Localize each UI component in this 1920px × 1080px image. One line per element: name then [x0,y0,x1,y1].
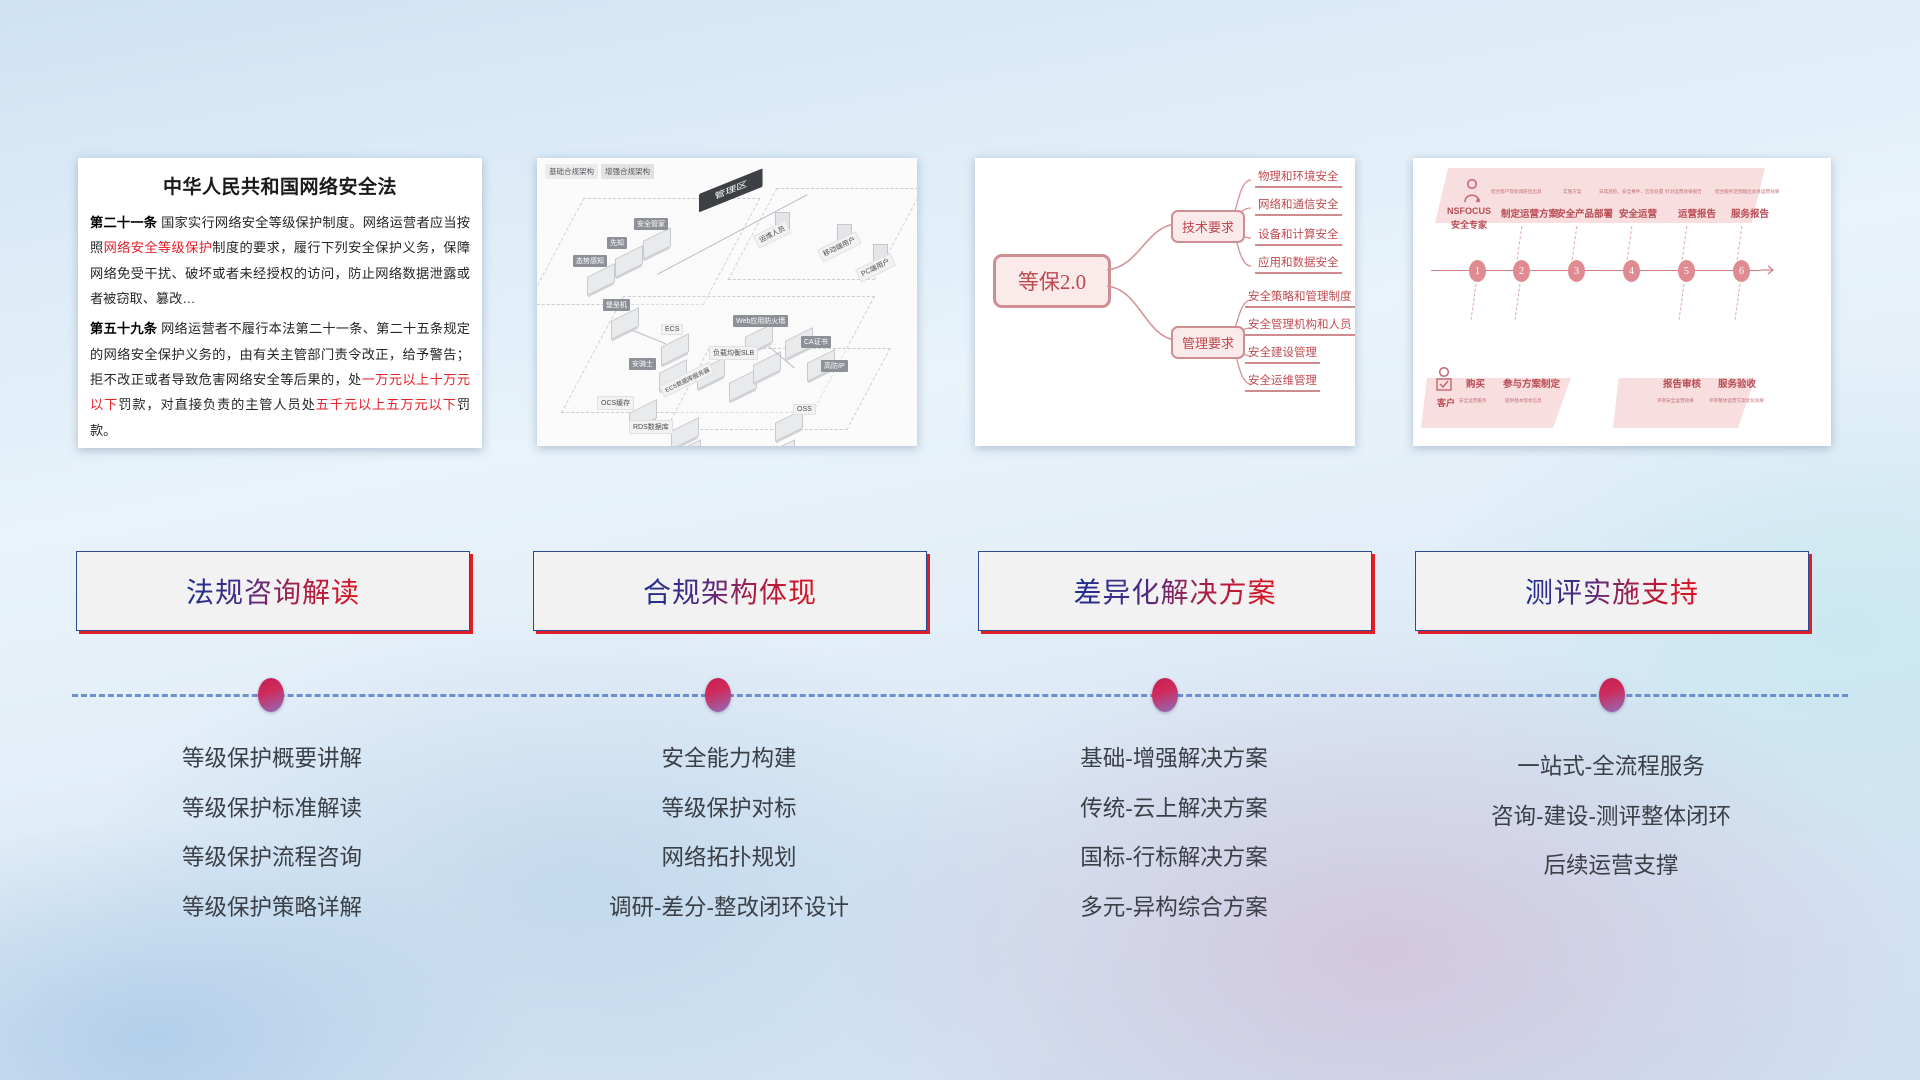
node-waf: Web应用防火墙 [733,315,788,327]
mindmap-leaf-org-personnel: 安全管理机构和人员 [1245,316,1355,336]
tab-enhanced-architecture[interactable]: 增强合规架构 [601,164,654,179]
list-item: 等级保护标准解读 [76,798,468,821]
list-item: 国标-行标解决方案 [978,847,1370,870]
timeline-dash-5 [1682,226,1689,260]
list-item: 等级保护策略详解 [76,897,468,920]
list-item: 后续运营支撑 [1415,855,1807,878]
cube-vpc [767,439,795,446]
node-ecs: ECS [661,324,683,335]
timeline-step-dot-6[interactable]: 6 [1733,260,1750,282]
list-item: 等级保护流程咨询 [76,847,468,870]
mindmap-branch-technical: 技术要求 [1171,210,1245,243]
timeline-step-dot-2[interactable]: 2 [1513,260,1530,282]
list-item: 安全能力构建 [533,748,925,771]
timeline-dash-3 [1572,226,1579,260]
mindmap-branch-management: 管理要求 [1171,326,1245,359]
timeline-dash-b6 [1735,284,1742,320]
law-article-label-2: 第五十九条 [90,321,157,336]
mindmap-diagram: 等保2.0 技术要求 管理要求 物理和环境安全 网络和通信安全 设备和计算安 [975,158,1355,446]
customer-step-5-sub: 评审安全运营效果 [1657,398,1694,404]
architecture-card: 基础合规架构 增强合规架构 管理区 安全管家 先知 态势感知 堡垒机 ECS [537,158,917,446]
node-xianzhi: 先知 [607,237,627,249]
section-title-box-4[interactable]: 测评实施支持 [1415,551,1809,631]
list-item: 一站式-全流程服务 [1415,756,1807,779]
timeline-step-dot-1[interactable]: 1 [1469,260,1486,282]
section-title-1: 法规咨询解读 [186,571,360,611]
node-situational-awareness: 态势感知 [573,255,607,267]
node-ocs-cache: OCS缓存 [597,396,634,410]
timeline-dash-b1 [1471,284,1478,320]
list-item: 传统-云上解决方案 [978,798,1370,821]
timeline-dash-b5 [1679,284,1686,320]
section-title-box-1[interactable]: 法规咨询解读 [76,551,470,631]
provider-step-5-sub: 针对运营效果报告 [1665,189,1702,195]
service-timeline-diagram: NSFOCUS 安全专家 结合客户现状调研后出具 制定运营方案 实施方案 安全产… [1413,158,1831,446]
customer-step-5-main: 报告审核 [1663,376,1701,390]
mindmap-card: 等保2.0 技术要求 管理要求 物理和环境安全 网络和通信安全 设备和计算安 [975,158,1355,446]
provider-step-4-main: 安全运营 [1619,206,1657,220]
provider-step-5-main: 运营报告 [1678,206,1716,220]
slide-canvas: 中华人民共和国网络安全法 第二十一条 国家实行网络安全等级保护制度。网络运营者应… [0,0,1920,1080]
mindmap-leaf-policy-system: 安全策略和管理制度 [1245,288,1355,308]
customer-step-6-sub: 评审整体运营方案优化效果 [1709,398,1764,404]
list-item: 等级保护概要讲解 [76,748,468,771]
mindmap-leaf-ops-mgmt: 安全运维管理 [1245,372,1320,392]
provider-step-4-sub: 日常巡检、安全事件、应急处置 [1599,189,1663,195]
node-bastion-host: 堡垒机 [603,299,630,311]
rail-dot-3[interactable] [1152,678,1178,712]
law-highlight-1: 网络安全等级保护 [104,240,213,255]
customer-step-6-main: 服务验收 [1718,376,1756,390]
list-item: 基础-增强解决方案 [978,748,1370,771]
timeline-rail [72,694,1848,697]
provider-step-3-main: 安全产品部署 [1556,206,1613,220]
timeline-step-dot-5[interactable]: 5 [1678,260,1695,282]
section-list-1: 等级保护概要讲解 等级保护标准解读 等级保护流程咨询 等级保护策略详解 [76,748,468,946]
service-timeline-card: NSFOCUS 安全专家 结合客户现状调研后出具 制定运营方案 实施方案 安全产… [1413,158,1831,446]
law-highlight-3: 五千元以上五万元以下 [316,397,457,412]
section-title-2: 合规架构体现 [643,571,817,611]
mindmap-leaf-device-compute: 设备和计算安全 [1255,226,1342,246]
architecture-tabs: 基础合规架构 增强合规架构 [545,164,654,179]
expert-person-icon [1459,178,1485,204]
section-list-2: 安全能力构建 等级保护对标 网络拓扑规划 调研-差分-整改闭环设计 [533,748,925,946]
provider-step-6-main: 服务报告 [1731,206,1769,220]
provider-step-3-sub: 实施方案 [1563,189,1581,195]
list-item: 多元-异构综合方案 [978,897,1370,920]
timeline-step-dot-3[interactable]: 3 [1568,260,1585,282]
customer-step-1-main: 购买 [1466,376,1485,390]
tab-basic-architecture[interactable]: 基础合规架构 [545,164,598,179]
node-oss: OSS [793,404,816,415]
provider-step-2-main: 制定运营方案 [1501,206,1558,220]
law-paragraph-2: 第五十九条 网络运营者不履行本法第二十一条、第二十五条规定的网络安全保护义务的，… [90,316,470,443]
section-title-box-2[interactable]: 合规架构体现 [533,551,927,631]
architecture-diagram: 基础合规架构 增强合规架构 管理区 安全管家 先知 态势感知 堡垒机 ECS [537,158,917,446]
node-slb: 负载均衡SLB [709,346,758,360]
law-paragraph-1: 第二十一条 国家实行网络安全等级保护制度。网络运营者应当按照网络安全等级保护制度… [90,210,470,311]
mindmap-leaf-network-comm: 网络和通信安全 [1255,196,1342,216]
customer-role: 客户 [1437,396,1455,409]
mindmap-leaf-app-data: 应用和数据安全 [1255,254,1342,274]
law-text-2b: 罚款，对直接负责的主管人员处 [118,397,316,412]
law-article-label-1: 第二十一条 [90,215,157,230]
timeline-dash-b2 [1515,284,1522,320]
mindmap-leaf-construction-mgmt: 安全建设管理 [1245,344,1320,364]
list-item: 网络拓扑规划 [533,847,925,870]
timeline-dash-2 [1517,226,1524,260]
section-title-3: 差异化解决方案 [1073,571,1276,611]
node-ca-cert: CA证书 [801,336,831,348]
provider-step-6-sub: 结合服务范围输出总体运营效果 [1715,189,1779,195]
provider-name: NSFOCUS [1447,206,1491,216]
rail-dot-2[interactable] [705,678,731,712]
timeline-dash-6 [1737,226,1744,260]
node-anti-ddos-ip: 高防IP [821,360,848,372]
list-item: 咨询-建设-测评整体闭环 [1415,806,1807,829]
customer-person-icon [1433,366,1455,392]
customer-step-2-main: 参与方案制定 [1503,376,1560,390]
node-rds-db: RDS数据库 [629,420,673,434]
node-security-butler: 安全管家 [634,218,668,230]
law-card: 中华人民共和国网络安全法 第二十一条 国家实行网络安全等级保护制度。网络运营者应… [78,158,482,448]
customer-step-2-sub: 提供基本现状信息 [1505,398,1542,404]
timeline-step-dot-4[interactable]: 4 [1623,260,1640,282]
provider-step-2-sub: 结合客户现状调研后出具 [1491,189,1542,195]
list-item: 等级保护对标 [533,798,925,821]
section-title-4: 测评实施支持 [1525,571,1699,611]
node-anqishi: 安骑士 [629,358,656,370]
rail-dot-1[interactable] [258,678,284,712]
customer-step-1-sub: 安全运营服务 [1459,398,1487,404]
rail-dot-4[interactable] [1599,678,1625,712]
timeline-arrow-icon [1761,264,1781,276]
section-list-4: 一站式-全流程服务 咨询-建设-测评整体闭环 后续运营支撑 [1415,756,1807,905]
law-card-title: 中华人民共和国网络安全法 [78,172,482,199]
timeline-dash-4 [1627,226,1634,260]
law-card-body: 第二十一条 国家实行网络安全等级保护制度。网络运营者应当按照网络安全等级保护制度… [78,210,482,448]
mindmap-leaf-physical-env: 物理和环境安全 [1255,168,1342,188]
section-list-3: 基础-增强解决方案 传统-云上解决方案 国标-行标解决方案 多元-异构综合方案 [978,748,1370,946]
provider-role: 安全专家 [1451,218,1487,231]
section-title-box-3[interactable]: 差异化解决方案 [978,551,1372,631]
list-item: 调研-差分-整改闭环设计 [533,897,925,920]
